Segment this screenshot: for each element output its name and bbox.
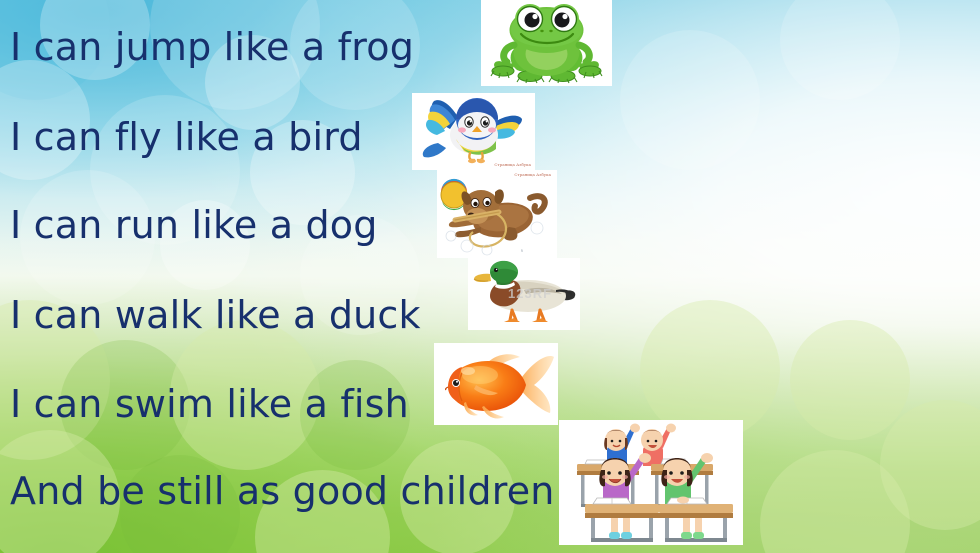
frog-image [481, 0, 612, 86]
bird-image-caption: Страница Азбука [494, 162, 531, 167]
slide-canvas: I can jump like a frog I can fly like a … [0, 0, 980, 553]
poem-line-5: I can swim like a fish [10, 385, 409, 423]
poem-line-3: I can run like a dog [10, 206, 378, 244]
children-image [559, 420, 743, 545]
poem-line-2: I can fly like a bird [10, 118, 363, 156]
svg-text:6: 6 [521, 248, 523, 253]
dog-image-caption: Страница Азбука [514, 172, 551, 177]
poem-line-4: I can walk like a duck [10, 296, 421, 334]
bird-image: Страница Азбука [412, 93, 535, 170]
poem-line-1: I can jump like a frog [10, 28, 414, 66]
duck-image: 123RF [468, 258, 580, 330]
fish-image [434, 343, 558, 425]
poem-line-6: And be still as good children [10, 472, 555, 510]
dog-image: 6 Страница Азбука [437, 170, 557, 258]
svg-text:123RF: 123RF [508, 286, 552, 301]
